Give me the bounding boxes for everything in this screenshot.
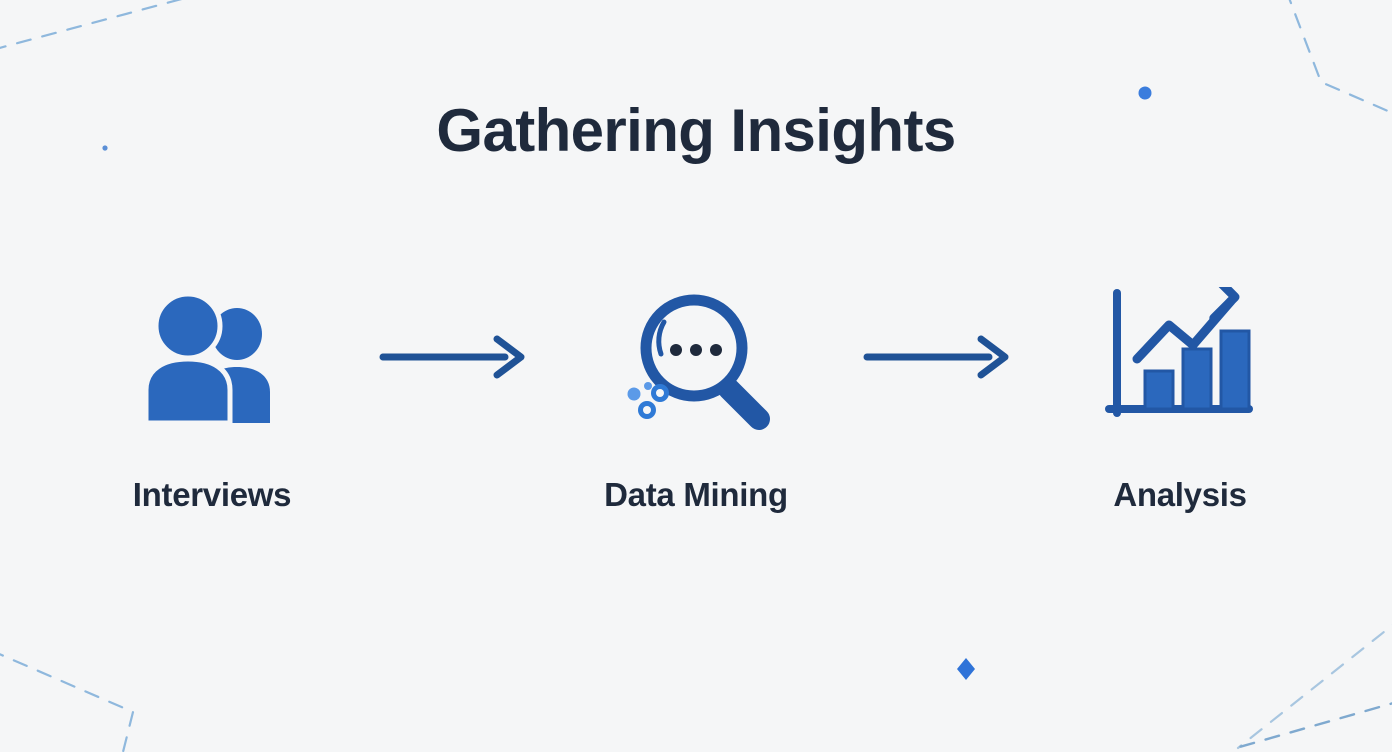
flow-step-data-mining-label: Data Mining: [604, 476, 788, 514]
decor-dash-top-left: [0, 0, 230, 50]
flow-step-data-mining-icon-wrap: [616, 282, 776, 432]
decor-dash-bottom-left: [0, 650, 133, 752]
arrow-right-icon: [379, 333, 529, 381]
slide-canvas: Gathering Insights Interviews: [0, 0, 1392, 752]
flow-connector-1: [366, 282, 542, 432]
flow-step-interviews-label: Interviews: [133, 476, 291, 514]
flow-step-interviews-icon-wrap: [136, 282, 288, 432]
arrow-right-icon: [863, 333, 1013, 381]
flow-step-analysis-label: Analysis: [1113, 476, 1246, 514]
people-icon: [136, 291, 288, 423]
process-flow: Interviews: [96, 282, 1296, 514]
flow-step-analysis[interactable]: Analysis: [1064, 282, 1296, 514]
bar-chart-growth-icon: [1105, 287, 1255, 427]
magnifier-data-icon: [616, 282, 776, 432]
flow-step-analysis-icon-wrap: [1105, 282, 1255, 432]
decor-dash-bottom-right-upper: [1238, 616, 1392, 748]
flow-step-data-mining[interactable]: Data Mining: [580, 282, 812, 514]
flow-step-interviews[interactable]: Interviews: [96, 282, 328, 514]
page-title: Gathering Insights: [0, 98, 1392, 164]
blue-diamond-sparkle-icon: [957, 658, 975, 680]
flow-connector-2: [850, 282, 1026, 432]
decor-dash-bottom-right-lower: [1236, 700, 1392, 748]
